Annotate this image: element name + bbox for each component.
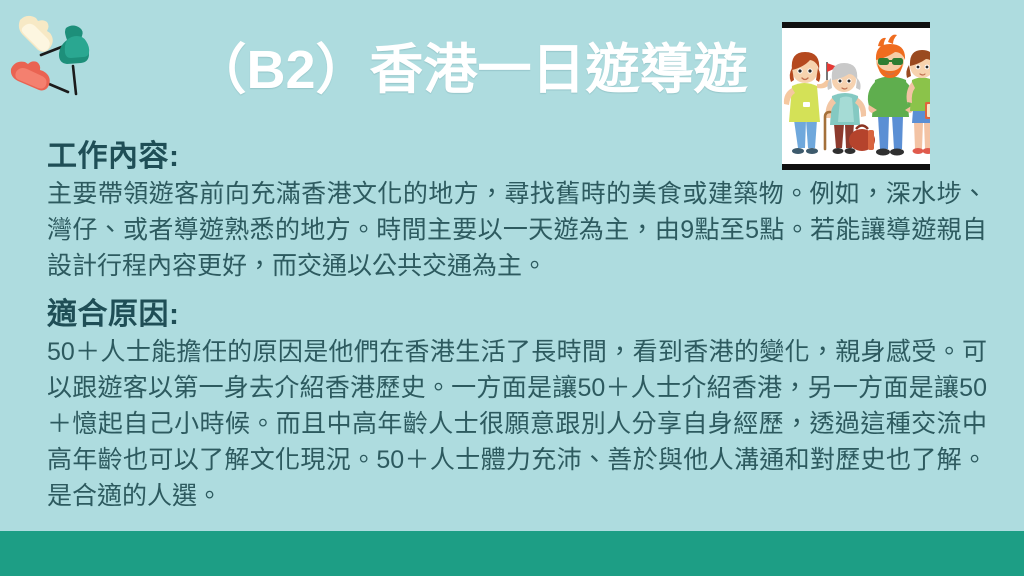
section-suitable-reason: 適合原因: 50＋人士能擔任的原因是他們在香港生活了長時間，看到香港的變化，親身…	[47, 298, 987, 515]
section-body-suitable-reason: 50＋人士能擔任的原因是他們在香港生活了長時間，看到香港的變化，親身感受。可以跟…	[47, 334, 987, 514]
slide-content: 工作內容: 主要帶領遊客前向充滿香港文化的地方，尋找舊時的美食或建築物。例如，深…	[47, 140, 987, 514]
section-heading-job-content: 工作內容:	[47, 140, 987, 174]
section-body-job-content: 主要帶領遊客前向充滿香港文化的地方，尋找舊時的美食或建築物。例如，深水埗、灣仔、…	[47, 176, 987, 284]
page-title: （B2）香港一日遊導遊	[160, 30, 780, 110]
slide-canvas: （B2）香港一日遊導遊	[0, 0, 1024, 576]
section-job-content: 工作內容: 主要帶領遊客前向充滿香港文化的地方，尋找舊時的美食或建築物。例如，深…	[47, 140, 987, 284]
pushpins-icon	[4, 4, 114, 104]
section-heading-suitable-reason: 適合原因:	[47, 298, 987, 332]
bottom-accent-bar	[0, 531, 1024, 576]
